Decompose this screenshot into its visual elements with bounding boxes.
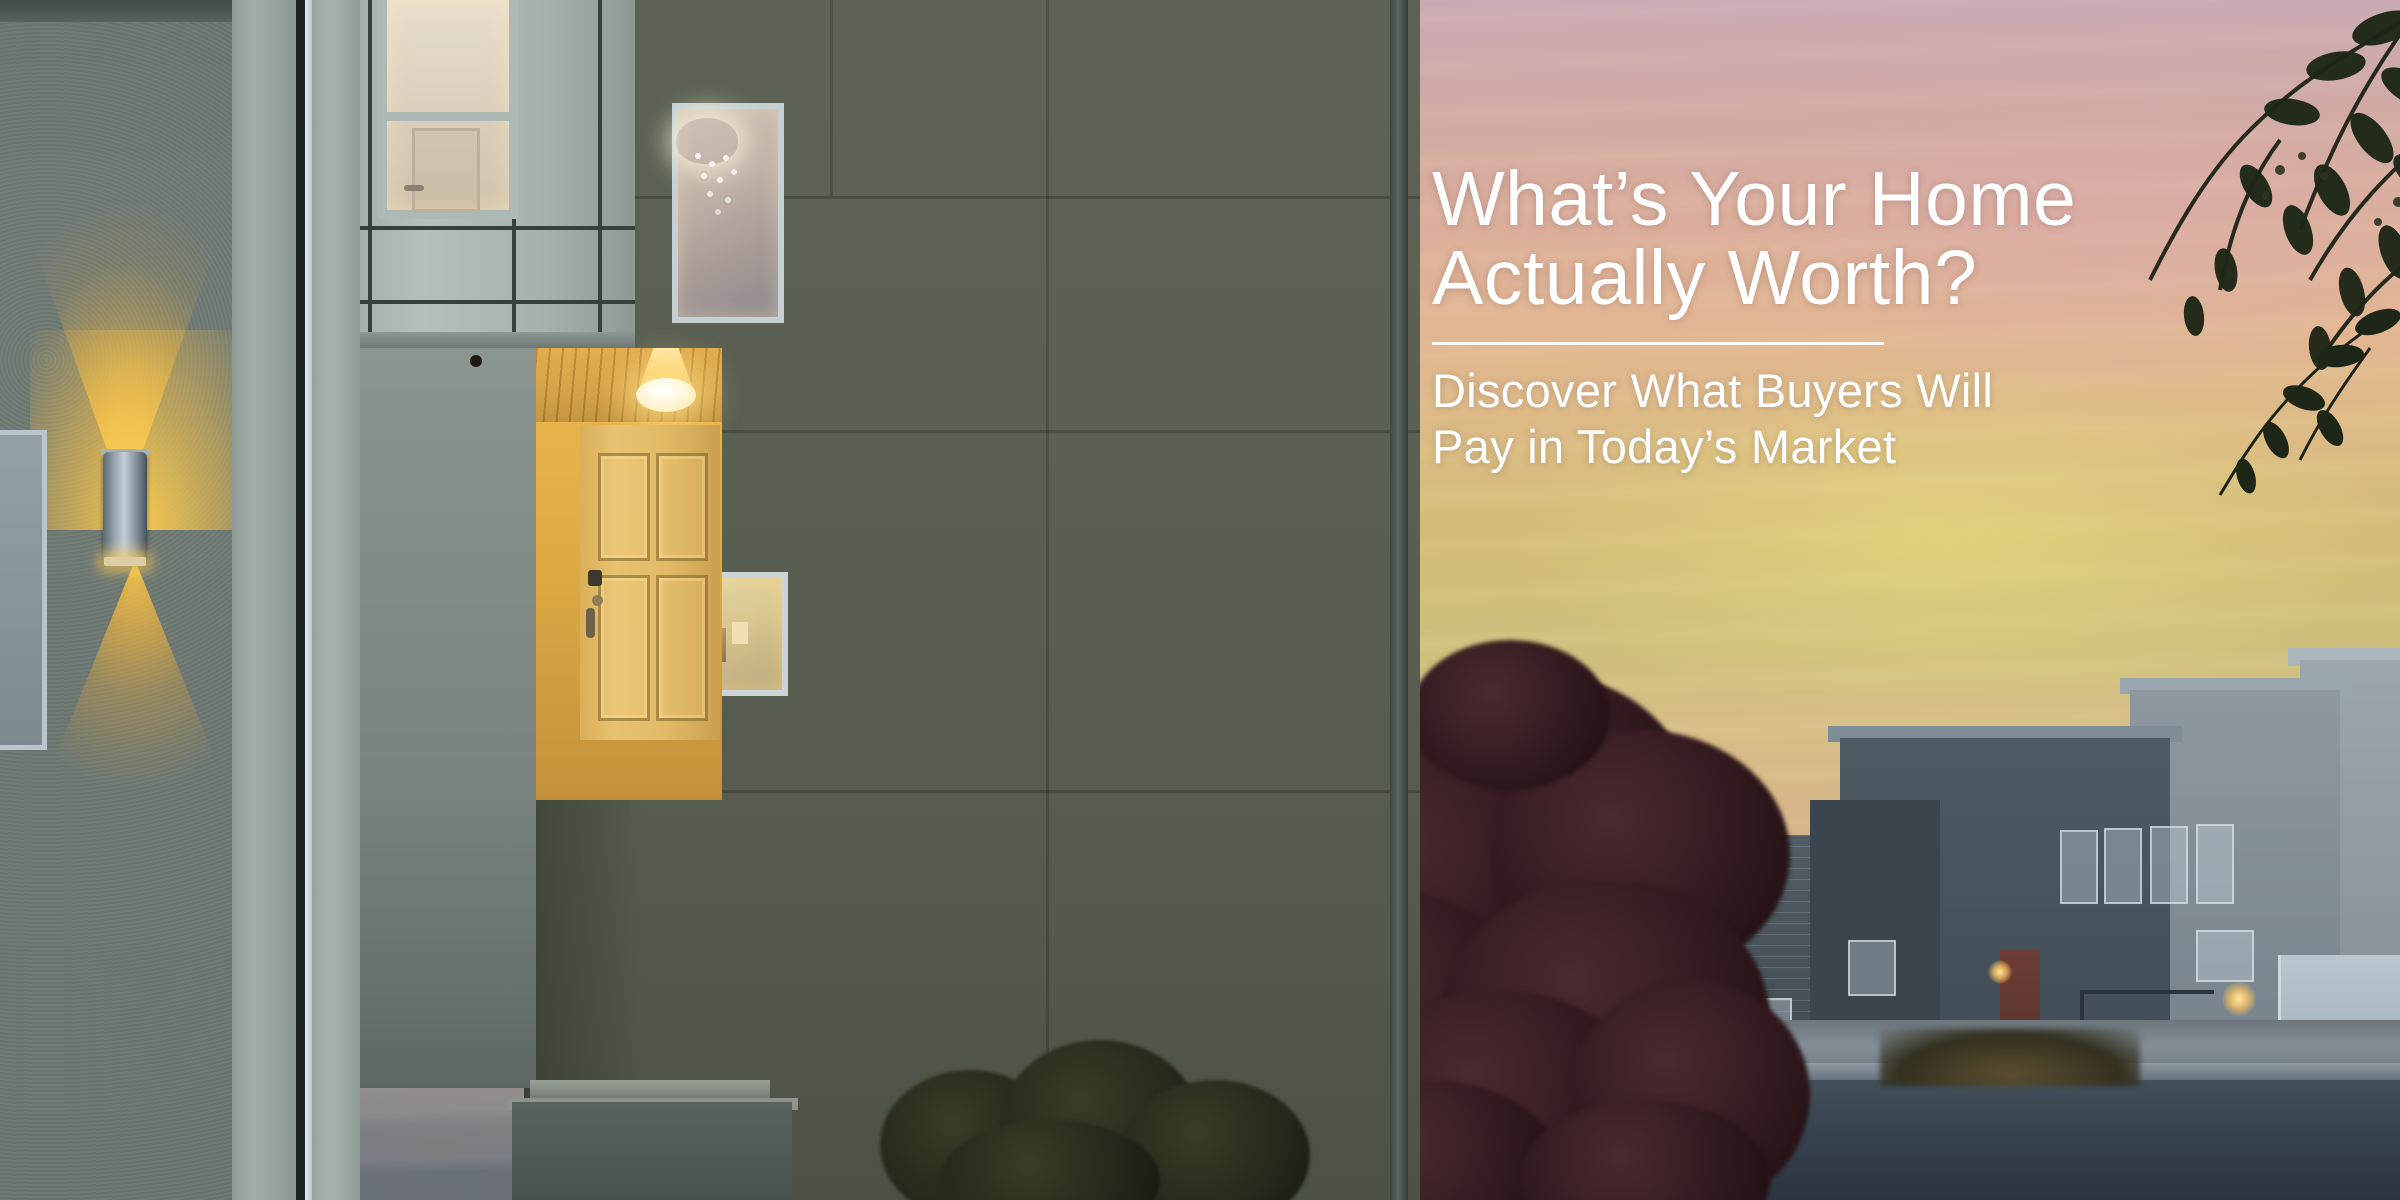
marketing-copy-block: What’s Your Home Actually Worth? Discove… bbox=[1432, 160, 2132, 475]
bay-reveal bbox=[598, 0, 602, 345]
downspout bbox=[1390, 0, 1408, 1200]
entry-step bbox=[512, 1102, 792, 1200]
porch-ceiling-vent bbox=[470, 355, 482, 367]
neighbour-window bbox=[2060, 830, 2098, 904]
foreground-shrub bbox=[880, 1030, 1300, 1200]
door-panel bbox=[598, 575, 650, 721]
door-knob[interactable] bbox=[592, 595, 603, 606]
trim-column-outer bbox=[232, 0, 296, 1200]
lane-marking bbox=[1620, 1128, 1740, 1135]
neighbour-window bbox=[2104, 828, 2142, 904]
page-title: What’s Your Home Actually Worth? bbox=[1432, 160, 2132, 319]
title-divider bbox=[1432, 342, 1884, 345]
neighbour-porch-light bbox=[1988, 960, 2012, 984]
trim-column-gap bbox=[296, 0, 305, 1200]
neighbour-window bbox=[2150, 826, 2188, 904]
neighbour-window bbox=[2196, 930, 2254, 982]
trim-column-highlight bbox=[305, 0, 312, 1200]
main-house bbox=[0, 0, 1420, 1200]
wall-top-trim bbox=[0, 0, 232, 22]
door-handle[interactable] bbox=[586, 608, 595, 638]
real-estate-banner: What’s Your Home Actually Worth? Discove… bbox=[0, 0, 2400, 1200]
bay-reveal bbox=[335, 300, 635, 304]
row-house-dark-panel bbox=[1810, 800, 1940, 1040]
street-shrub bbox=[1880, 1028, 2140, 1086]
facade-seam bbox=[524, 196, 1420, 199]
door-panel bbox=[656, 575, 708, 721]
bay-reveal bbox=[335, 226, 635, 230]
interior-door bbox=[412, 128, 480, 212]
neighbour-window bbox=[1848, 940, 1896, 996]
bay-reveal bbox=[368, 0, 372, 345]
page-subtitle: Discover What Buyers Will Pay in Today’s… bbox=[1432, 363, 2132, 476]
lane-marking bbox=[1420, 1128, 1540, 1135]
wall-sconce bbox=[103, 452, 147, 564]
neighbour-porch-light bbox=[2222, 982, 2256, 1016]
door-panel bbox=[656, 453, 708, 561]
tree-branch-secondary bbox=[2180, 300, 2400, 500]
door-deadbolt[interactable] bbox=[588, 570, 602, 586]
porch-ceiling bbox=[536, 348, 722, 422]
chandelier-crystals bbox=[690, 150, 754, 222]
sconce-lens bbox=[104, 557, 146, 566]
trim-column-inner bbox=[312, 0, 360, 1200]
interior-lamp bbox=[732, 622, 748, 644]
facade-seam bbox=[830, 0, 833, 196]
bay-soffit bbox=[335, 332, 635, 348]
porch-light-globe bbox=[636, 378, 696, 412]
neighbour-window bbox=[2196, 824, 2234, 904]
door-panel bbox=[598, 453, 650, 561]
interior-door-handle bbox=[404, 185, 424, 191]
upper-window-mullion bbox=[378, 112, 518, 121]
side-window bbox=[0, 430, 47, 750]
porch-side-wall bbox=[358, 348, 536, 1088]
facade-seam bbox=[1046, 0, 1049, 1200]
